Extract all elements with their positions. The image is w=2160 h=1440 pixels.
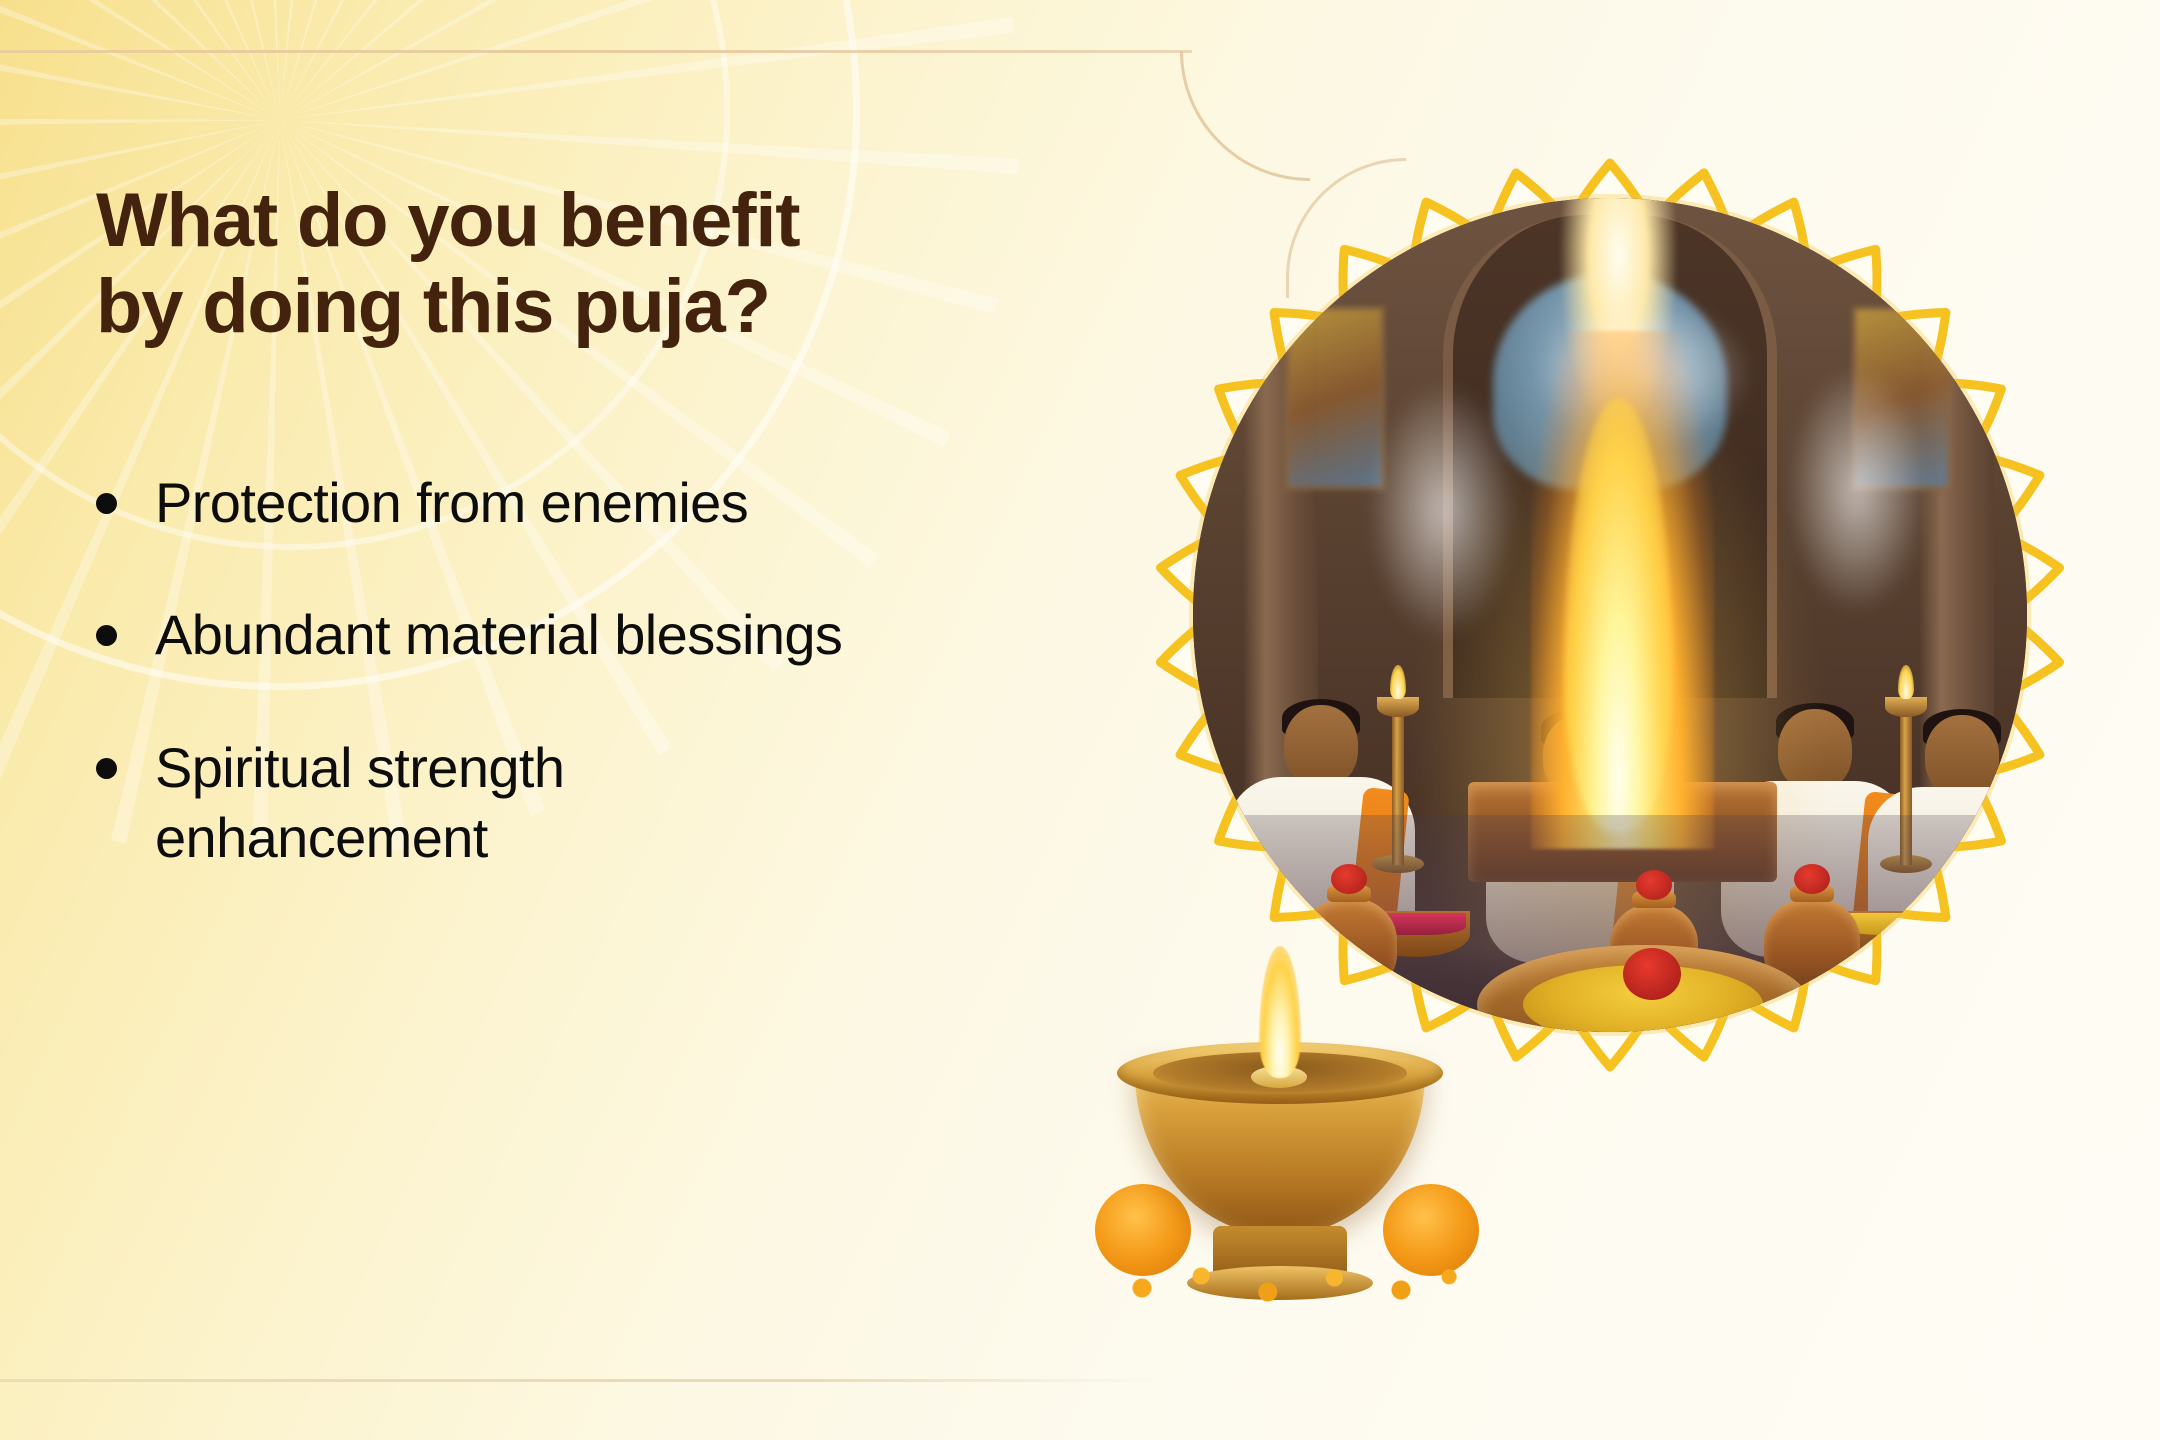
text-panel: What do you benefit by doing this puja? …: [96, 178, 1096, 936]
lamp-cup: [1885, 697, 1927, 717]
kalash-pot: [1910, 908, 1994, 990]
red-flower: [1934, 874, 1970, 904]
frame-line-bottom: [0, 1379, 1160, 1382]
bullet-dot-icon: [96, 493, 117, 514]
scattered-petals: [1105, 1264, 1475, 1304]
marigold-flower: [1383, 1184, 1479, 1276]
priest-head: [1925, 715, 1999, 797]
rose-flower: [1623, 948, 1681, 1000]
brass-diya-lamp: [1095, 930, 1495, 1310]
list-item: Spiritual strength enhancement: [96, 733, 1096, 874]
bullet-dot-icon: [96, 758, 117, 779]
priest-head: [1284, 705, 1358, 787]
page-title-line-2: by doing this puja?: [96, 264, 1096, 350]
benefits-list: Protection from enemies Abundant materia…: [96, 468, 1096, 874]
lamp-flame: [1898, 665, 1914, 699]
frame-line-top: [0, 50, 1192, 53]
page-title: What do you benefit by doing this puja?: [96, 178, 1096, 350]
benefit-text: Spiritual strength enhancement: [155, 733, 855, 874]
havan-fire-ritual-photo: [1193, 198, 2027, 1032]
marigold-flower: [1095, 1184, 1191, 1276]
list-item: Protection from enemies: [96, 468, 1096, 539]
artwork-panel: [1105, 70, 2115, 1330]
diya-flame: [1259, 946, 1301, 1078]
benefit-text: Abundant material blessings: [155, 600, 842, 671]
bullet-dot-icon: [96, 625, 117, 646]
page-title-line-1: What do you benefit: [96, 178, 1096, 264]
promo-slide: What do you benefit by doing this puja? …: [0, 0, 2160, 1440]
benefit-text: Protection from enemies: [155, 468, 748, 539]
list-item: Abundant material blessings: [96, 600, 1096, 671]
